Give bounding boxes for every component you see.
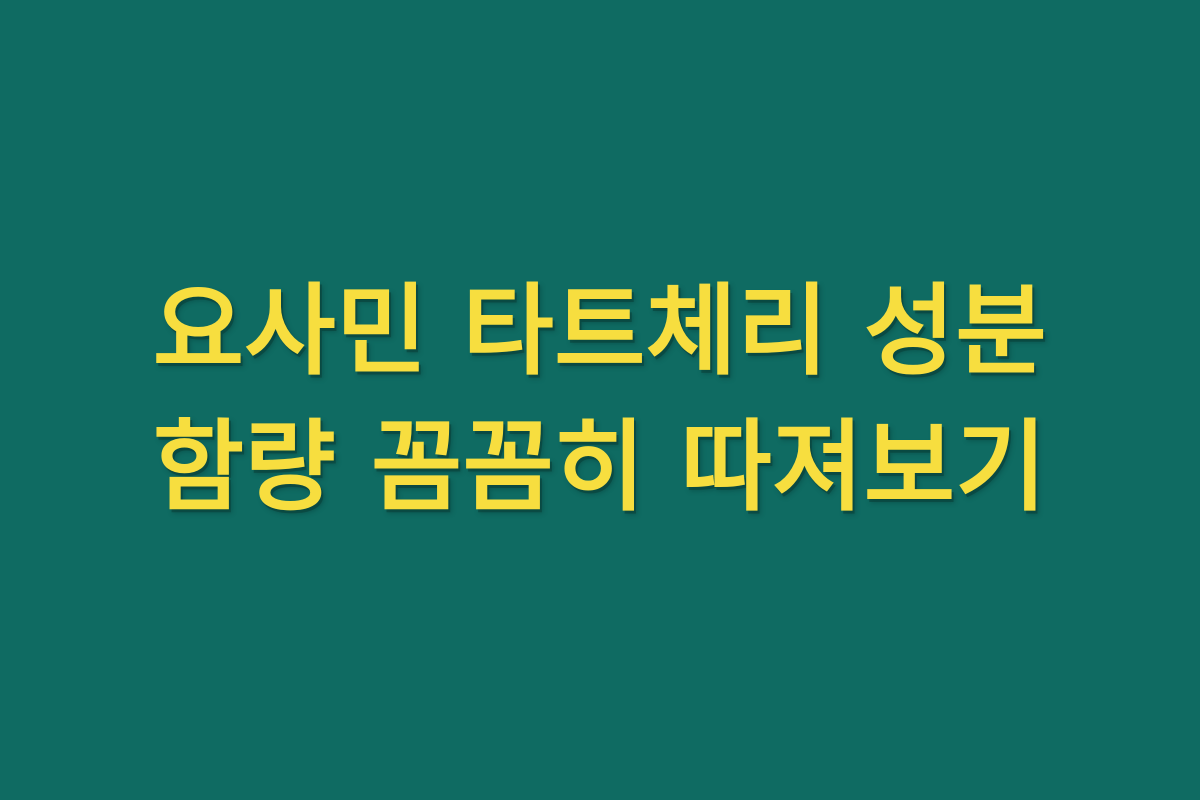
page-title: 요사민 타트체리 성분 함량 꼼꼼히 따져보기 — [90, 264, 1110, 536]
banner-canvas: 요사민 타트체리 성분 함량 꼼꼼히 따져보기 — [0, 0, 1200, 800]
headline-block: 요사민 타트체리 성분 함량 꼼꼼히 따져보기 — [70, 264, 1130, 536]
